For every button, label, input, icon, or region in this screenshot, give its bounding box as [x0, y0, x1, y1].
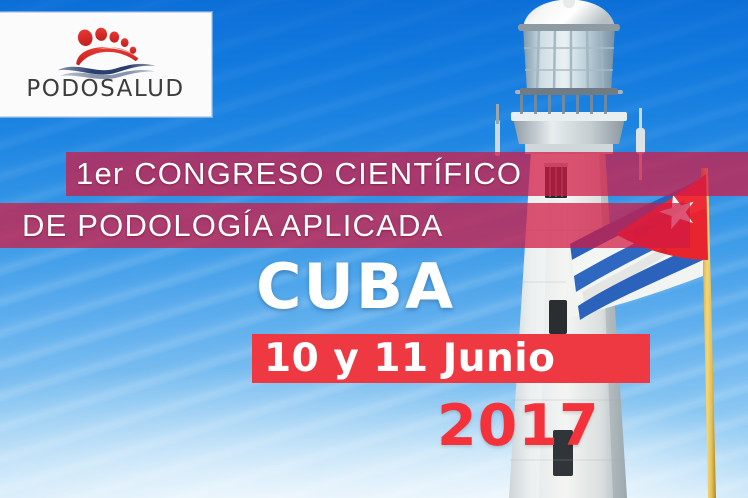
country-heading: CUBA [256, 256, 455, 318]
podosalud-wordmark: PODOSALUD [26, 78, 184, 101]
year-text: 2017 [437, 398, 600, 455]
congress-promo-poster: PODOSALUD 1er CONGRESO CIENTÍFICO DE POD… [0, 0, 748, 498]
podosalud-logo-panel: PODOSALUD [0, 12, 212, 117]
title-band-line2: DE PODOLOGÍA APLICADA [0, 203, 690, 248]
title-line1-text: 1er CONGRESO CIENTÍFICO [76, 156, 522, 192]
date-text: 10 y 11 Junio [264, 339, 555, 378]
date-band: 10 y 11 Junio [252, 334, 650, 383]
footprint-wave-logo [50, 26, 162, 80]
title-line2-text: DE PODOLOGÍA APLICADA [22, 208, 443, 244]
footprint-icon [50, 26, 162, 80]
title-band-line1: 1er CONGRESO CIENTÍFICO [66, 152, 748, 196]
